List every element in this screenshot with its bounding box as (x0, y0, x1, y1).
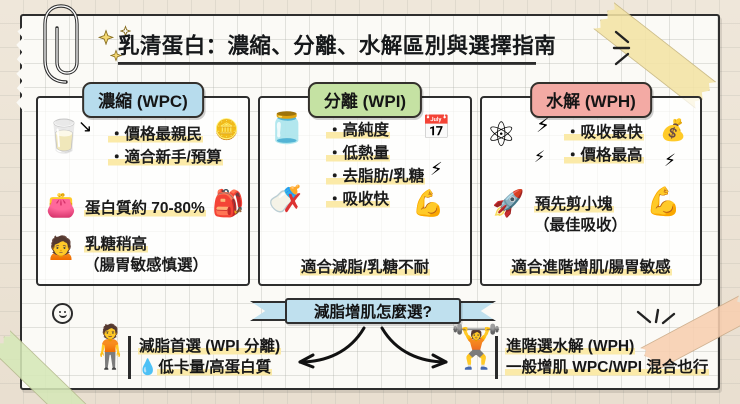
row-lactose-note: （腸胃敏感慎選） (84, 255, 208, 276)
card-wpc: 濃縮 (WPC) 🥛 ↘ 🪙 ・價格最親民 ・適合新手/預算 👛 🎒 🙍 蛋白質… (36, 96, 250, 286)
molecule-icon: ⚛ (486, 118, 516, 152)
card-wph: 水解 (WPH) ⚛ ⚡ 💰 ⚡ ⚡ 🚀 💪 ・吸收最快 ・價格最高 預先剪小塊… (480, 96, 702, 286)
infographic-canvas: 乳清蛋白：濃縮、分離、水解區別與選擇指南 濃縮 (WPC) 🥛 ↘ 🪙 ・價格最… (0, 0, 740, 404)
stomach-ache-icon: 🙍 (46, 236, 76, 260)
smiley-face-icon (52, 303, 73, 324)
row-protein-pct: 蛋白質約 70-80% (84, 198, 206, 219)
emphasis-lines (636, 308, 676, 340)
curved-arrow-left-icon (290, 326, 368, 372)
row-lactose: 乳糖稍高 (84, 234, 208, 255)
pour-arrow-icon: ↘ (78, 118, 92, 135)
card-wph-footer: 適合進階增肌/腸胃敏感 (482, 255, 700, 277)
card-wph-rows: 預先剪小塊 （最佳吸收） (534, 194, 627, 236)
coins-icon: 🪙 (214, 120, 239, 140)
card-wpi: 分離 (WPI) 🫙 📅 ⚡ 🍼 ✗ 💪 ・高純度 ・低熱量 ・去脂肪/乳糖 ・… (258, 96, 472, 286)
lightning-icon: ⚡ (430, 160, 443, 178)
paperclip-icon (36, 2, 92, 93)
row-best-absorb: （最佳吸收） (534, 215, 627, 236)
conclusion-right-line2: 一般增肌 WPC/WPI 混合也行 (505, 357, 709, 378)
cross-out-icon: ✗ (282, 190, 304, 216)
flex-arm-icon: 💪 (412, 190, 444, 216)
page-title: 乳清蛋白：濃縮、分離、水解區別與選擇指南 (118, 33, 538, 60)
lightning-icon: ⚡ (536, 116, 550, 136)
bodybuilder-icon: 💪 (646, 188, 681, 216)
card-wpc-title: 濃縮 (WPC) (82, 82, 204, 118)
conclusion-left-line2: 💧低卡量/高蛋白質 (138, 357, 281, 378)
rocket-icon: 🚀 (492, 190, 524, 216)
lightning-icon: ⚡ (534, 150, 545, 166)
curved-arrow-right-icon (378, 326, 456, 372)
conclusion-right: 進階選水解 (WPH) 一般增肌 WPC/WPI 混合也行 (495, 336, 709, 379)
money-bag-icon: 💰 (660, 120, 686, 141)
card-wpi-title: 分離 (WPI) (308, 82, 422, 118)
card-wpi-footer: 適合減脂/乳糖不耐 (260, 255, 470, 277)
conclusion-left-line1: 減脂首選 (WPI 分離) (138, 336, 281, 357)
title-block: 乳清蛋白：濃縮、分離、水解區別與選擇指南 (118, 33, 538, 65)
row-pre-cut: 預先剪小塊 (534, 194, 627, 215)
conclusion-left: 減脂首選 (WPI 分離) 💧低卡量/高蛋白質 (128, 336, 281, 379)
title-underline (118, 62, 536, 65)
water-drop-icon: 💧 (138, 359, 157, 376)
protein-jar-icon: 🫙 (268, 114, 305, 144)
wallet-icon: 👛 (46, 194, 76, 218)
star-icon (98, 30, 114, 46)
student-icon: 🎒 (212, 190, 244, 216)
bullet-item: ・適合新手/預算 (108, 147, 240, 169)
section-banner: 減脂增肌怎麼選? (285, 298, 461, 324)
lightning-icon: ⚡ (664, 152, 676, 169)
card-wph-title: 水解 (WPH) (530, 82, 652, 118)
card-wpc-rows: 蛋白質約 70-80% (84, 198, 206, 219)
comparison-columns: 濃縮 (WPC) 🥛 ↘ 🪙 ・價格最親民 ・適合新手/預算 👛 🎒 🙍 蛋白質… (36, 96, 704, 286)
conclusion-right-line1: 進階選水解 (WPH) (505, 336, 709, 357)
calendar-icon: 📅 (422, 116, 451, 139)
emphasis-lines (612, 30, 646, 75)
